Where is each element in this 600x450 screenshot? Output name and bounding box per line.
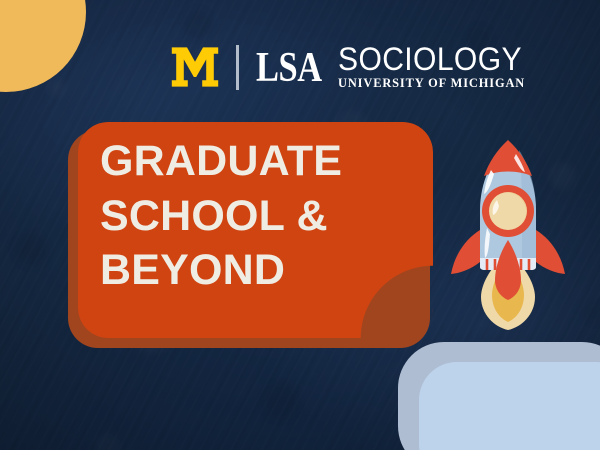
title-line-2: SCHOOL &: [100, 189, 430, 244]
blue-rounded-card-inner: [419, 362, 600, 450]
poster-canvas: GRADUATE SCHOOL & BEYOND LSA SOCIOLOGY U…: [0, 0, 600, 450]
logo-lockup: LSA SOCIOLOGY UNIVERSITY OF MICHIGAN: [171, 41, 534, 93]
lsa-abbrev: LSA: [256, 47, 322, 89]
title-line-1: GRADUATE: [100, 134, 430, 189]
title-line-3: BEYOND: [100, 243, 430, 298]
rocket-fin-right: [536, 230, 565, 274]
rocket-icon: [447, 134, 569, 330]
department-name: SOCIOLOGY: [338, 44, 522, 75]
wordmark: SOCIOLOGY UNIVERSITY OF MICHIGAN: [338, 44, 534, 90]
block-m-icon: [171, 45, 219, 89]
rocket-fin-left: [451, 230, 480, 274]
institution-name: UNIVERSITY OF MICHIGAN: [338, 76, 532, 90]
page-title: GRADUATE SCHOOL & BEYOND: [100, 134, 430, 298]
logo-divider: [236, 45, 239, 90]
